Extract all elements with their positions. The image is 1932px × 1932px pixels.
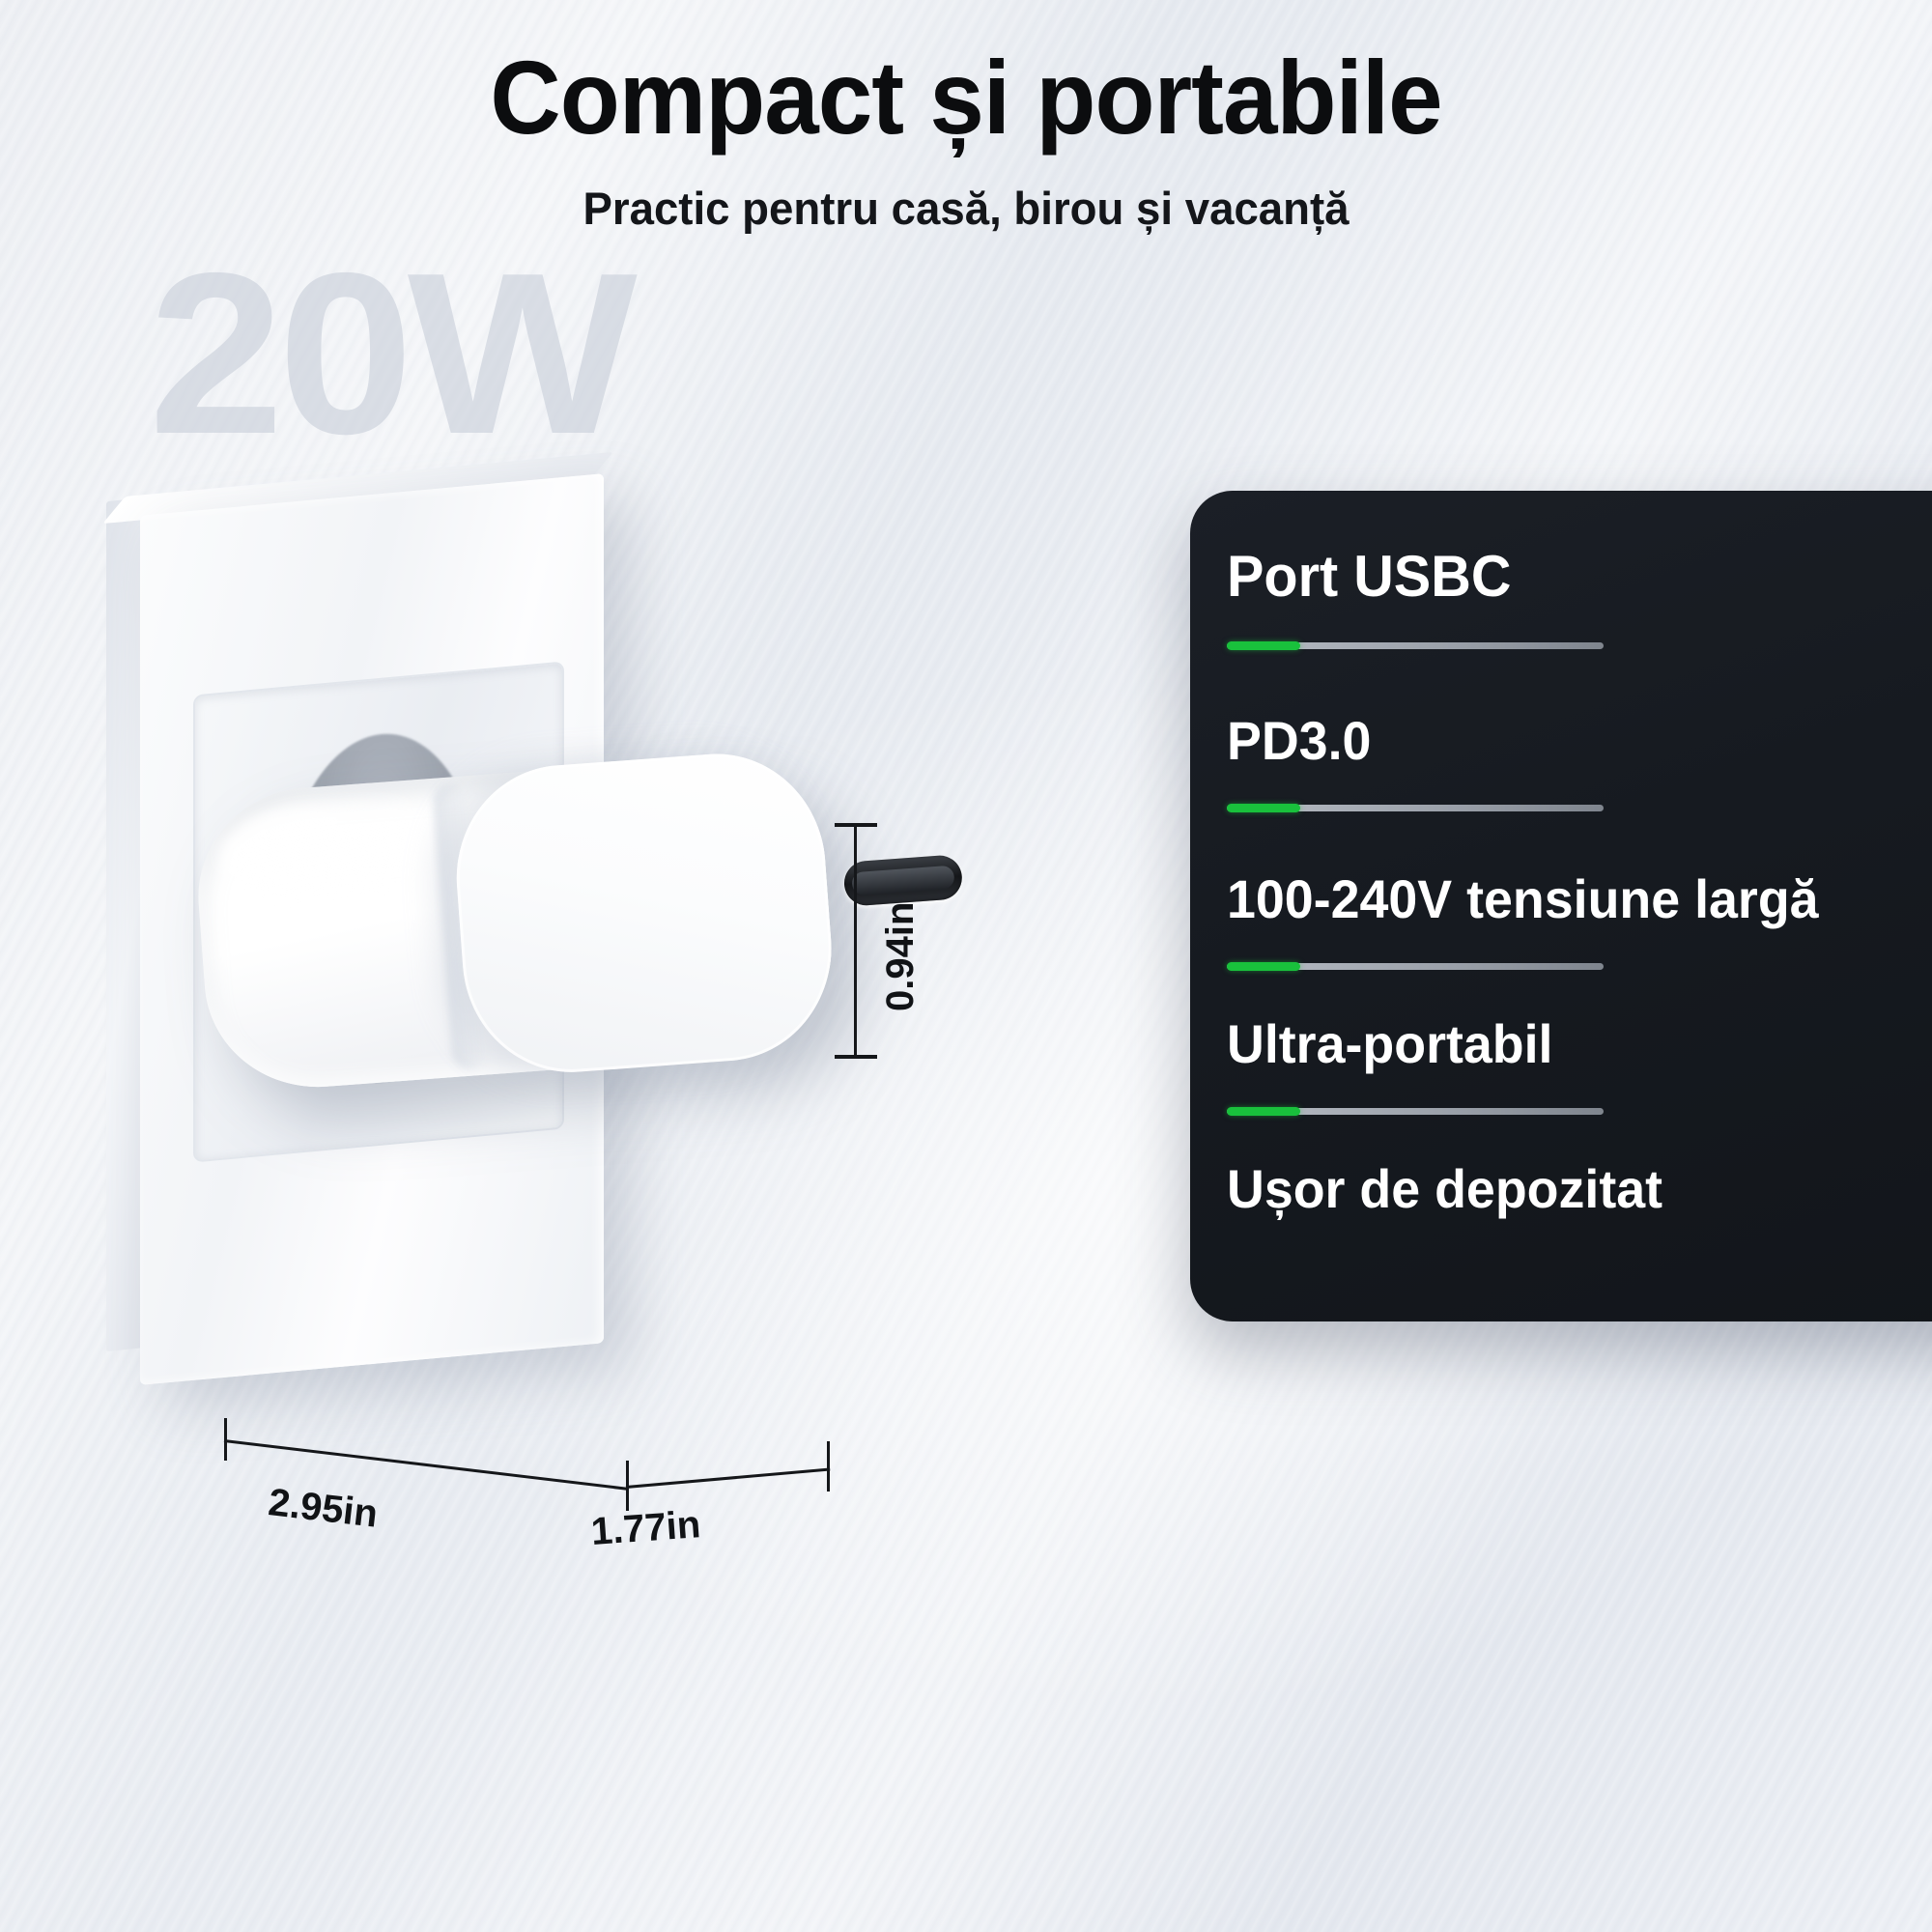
feature-item: PD3.0	[1227, 709, 1932, 811]
feature-divider	[1227, 963, 1604, 970]
dimension-line-width	[626, 1468, 830, 1489]
dimension-tick-depth-start	[224, 1418, 227, 1461]
feature-item: Port USBC	[1227, 543, 1932, 649]
feature-item: Ușor de depozitat	[1227, 1157, 1932, 1220]
feature-item: 100-240V tensiune largă	[1227, 867, 1932, 970]
page-subtitle: Practic pentru casă, birou și vacanță	[29, 182, 1903, 235]
dimension-annotations: 2.95in 1.77in 0.94in	[0, 415, 947, 1478]
feature-label: Ultra-portabil	[1227, 1012, 1932, 1075]
feature-list: Port USBC PD3.0 100-240V tensiune largă …	[1227, 543, 1932, 1220]
feature-item: Ultra-portabil	[1227, 1012, 1932, 1115]
dimension-tick-width-end	[827, 1441, 830, 1492]
page-title: Compact și portabile	[58, 44, 1874, 151]
feature-label: Ușor de depozitat	[1227, 1157, 1932, 1220]
dimension-tick-width-start	[626, 1461, 629, 1511]
dimension-label-height: 0.94in	[879, 902, 923, 1011]
feature-label: PD3.0	[1227, 709, 1932, 772]
feature-divider	[1227, 1108, 1604, 1115]
feature-label: 100-240V tensiune largă	[1227, 867, 1932, 930]
feature-divider	[1227, 642, 1604, 649]
feature-accent-bar	[1227, 962, 1300, 971]
feature-accent-bar	[1227, 804, 1300, 812]
feature-divider	[1227, 805, 1604, 811]
product-feature-banner: Compact și portabile Practic pentru casă…	[0, 0, 1932, 1932]
feature-accent-bar	[1227, 1107, 1300, 1116]
dimension-label-width: 1.77in	[589, 1503, 701, 1554]
dimension-line-height	[854, 825, 857, 1057]
dimension-label-depth: 2.95in	[266, 1481, 380, 1537]
feature-label: Port USBC	[1227, 543, 1932, 610]
dimension-tick-height-bottom	[835, 1055, 877, 1059]
feature-accent-bar	[1227, 641, 1300, 650]
feature-panel: Port USBC PD3.0 100-240V tensiune largă …	[1190, 491, 1932, 1321]
